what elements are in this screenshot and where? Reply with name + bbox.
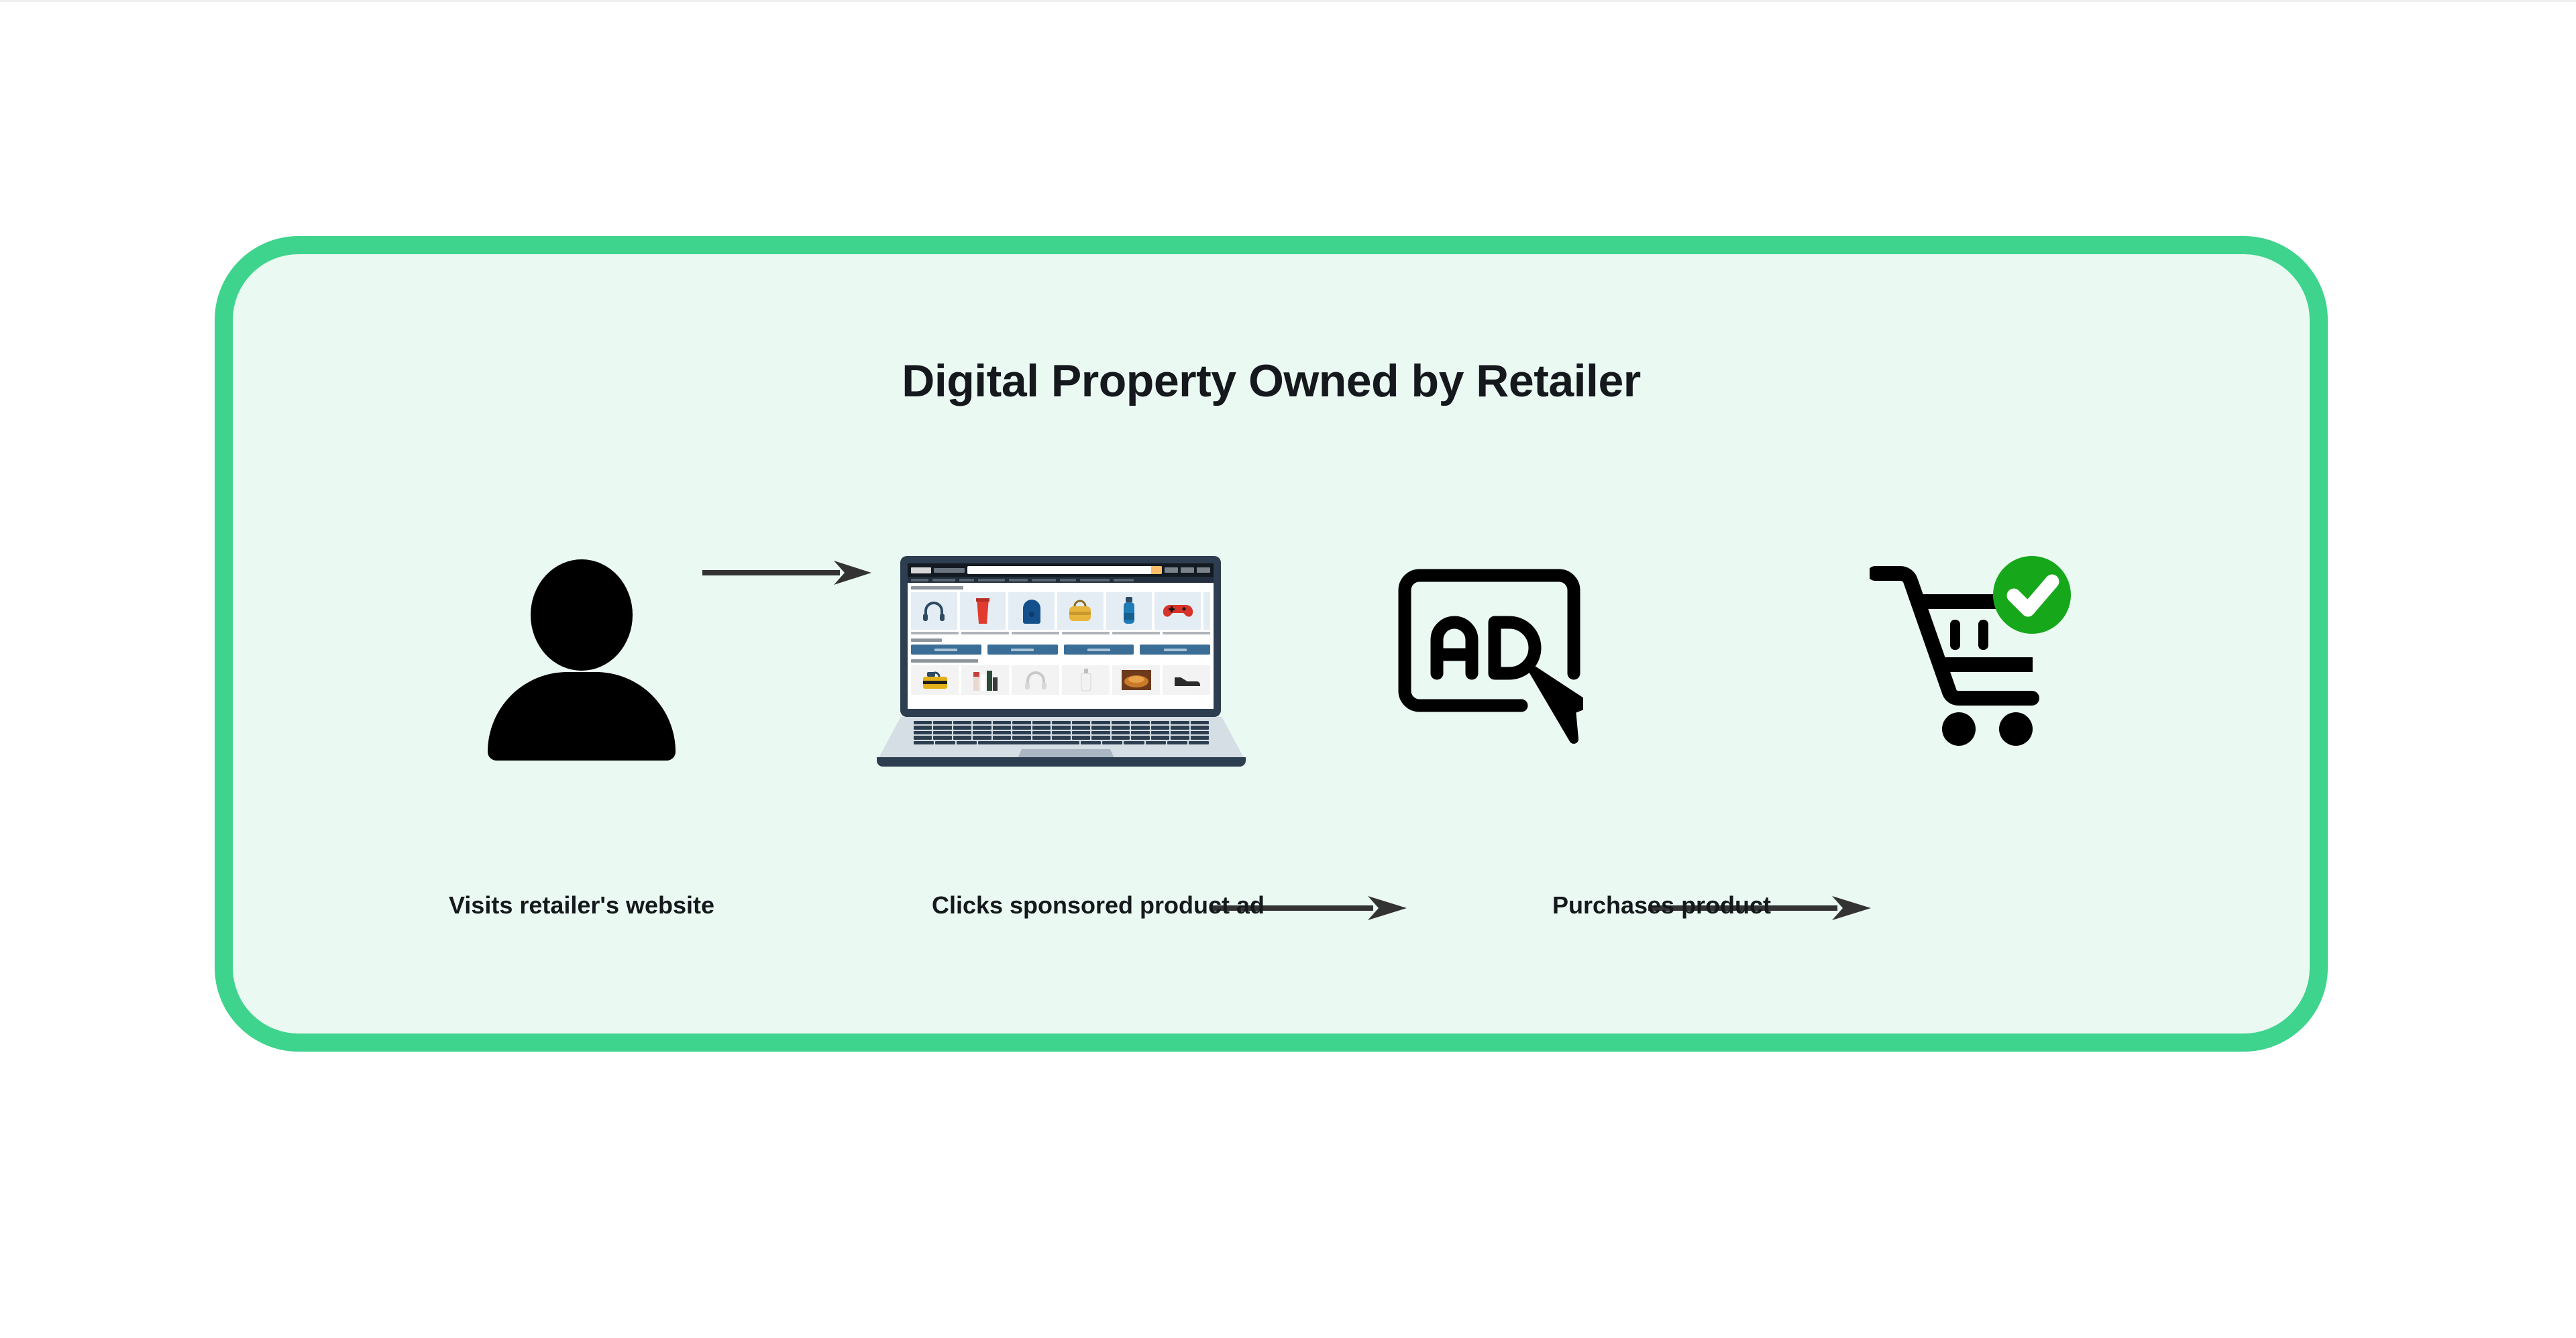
- site-logo: [911, 567, 931, 573]
- step-caption-purchases-product: Purchases product: [1413, 891, 1910, 919]
- subnav-item: [911, 579, 928, 581]
- diagram-card: Digital Property Owned by Retailer: [215, 236, 2328, 1052]
- step-caption-clicks-ad: Clicks sponsored product ad: [823, 891, 1373, 919]
- recommendation-thumb: [1012, 665, 1059, 695]
- recommendation-thumb: [1112, 665, 1160, 695]
- recommendation-row: [911, 665, 1210, 695]
- subnav-item: [1060, 579, 1076, 581]
- product-card: [1155, 592, 1201, 630]
- headphones-icon: [920, 598, 947, 624]
- top-hairline: [0, 0, 2576, 2]
- shoe-icon: [1173, 673, 1200, 687]
- game-controller-icon: [1163, 601, 1193, 621]
- shop-now-button[interactable]: [1064, 645, 1134, 655]
- laptop-screen: [908, 563, 1214, 709]
- flow-diagram: Visits retailer's website Clicks sponsor…: [233, 254, 2346, 1070]
- laptop-icon: [877, 556, 1246, 771]
- subnav-item: [978, 579, 1005, 581]
- product-caption: [1012, 632, 1059, 634]
- serum-bottle-icon: [1080, 669, 1092, 691]
- product-caption: [1163, 632, 1210, 634]
- product-card: [1008, 592, 1055, 630]
- product-caption: [911, 632, 959, 634]
- site-header: [908, 563, 1214, 577]
- recommendation-thumb: [911, 665, 959, 695]
- key-row: [914, 731, 1209, 734]
- product-card: [1106, 592, 1152, 630]
- section-heading: [911, 659, 978, 663]
- grooming-set-icon: [972, 669, 999, 691]
- product-card: [911, 592, 957, 630]
- key-row: [914, 726, 1209, 729]
- product-caption: [961, 632, 1009, 634]
- white-headphones-icon: [1024, 670, 1047, 690]
- product-card: [960, 592, 1006, 630]
- subnav-item: [1080, 579, 1110, 581]
- backpack-icon: [1019, 598, 1044, 624]
- laptop-base-lip: [877, 757, 1246, 767]
- subnav-item: [1114, 579, 1134, 581]
- laptop-lid: [900, 556, 1221, 717]
- person-head: [531, 559, 633, 671]
- recommendation-thumb: [1163, 665, 1210, 695]
- product-card: [1203, 592, 1210, 630]
- ad-click-glyph: [1395, 566, 1583, 747]
- site-body: [908, 583, 1214, 695]
- duffel-bag-icon: [1067, 598, 1093, 624]
- shop-button-row: [911, 645, 1210, 655]
- step-caption-visits-website: Visits retailer's website: [354, 891, 810, 919]
- laptop-keyboard: [914, 721, 1209, 744]
- ad-click-icon: [1395, 566, 1583, 747]
- site-nav-cart: [1197, 567, 1210, 573]
- food-photo-icon: [1122, 670, 1151, 690]
- tool-bag-icon: [922, 670, 949, 690]
- site-deliver-to: [934, 568, 965, 573]
- site-search-bar: [967, 566, 1162, 574]
- subnav-item: [1032, 579, 1056, 581]
- key-row: [914, 736, 1209, 739]
- shop-now-button[interactable]: [1140, 645, 1210, 655]
- cart-glyph: [1870, 556, 2071, 750]
- recommendation-thumb: [1062, 665, 1110, 695]
- product-caption: [1112, 632, 1160, 634]
- cart-check-icon: [1870, 556, 2071, 750]
- section-heading: [911, 586, 963, 590]
- tumbler-icon: [974, 597, 991, 625]
- product-caption: [1062, 632, 1110, 634]
- site-nav-account: [1165, 567, 1178, 573]
- recommendation-thumb: [961, 665, 1009, 695]
- site-subnav: [908, 577, 1214, 583]
- person-icon: [488, 559, 676, 761]
- product-card-row: [911, 592, 1210, 630]
- subnav-item: [1009, 579, 1028, 581]
- shop-now-button[interactable]: [911, 645, 981, 655]
- subnav-item: [959, 579, 974, 581]
- key-row: [914, 741, 1209, 744]
- product-card: [1057, 592, 1104, 630]
- shop-now-button[interactable]: [987, 645, 1058, 655]
- arrow-1-icon: [702, 553, 877, 593]
- subnav-item: [932, 579, 955, 581]
- bottle-icon: [1122, 597, 1136, 625]
- product-caption-row: [911, 632, 1210, 634]
- person-body: [488, 672, 676, 761]
- key-row: [914, 721, 1209, 724]
- section-heading: [911, 638, 942, 642]
- site-nav-returns: [1181, 567, 1194, 573]
